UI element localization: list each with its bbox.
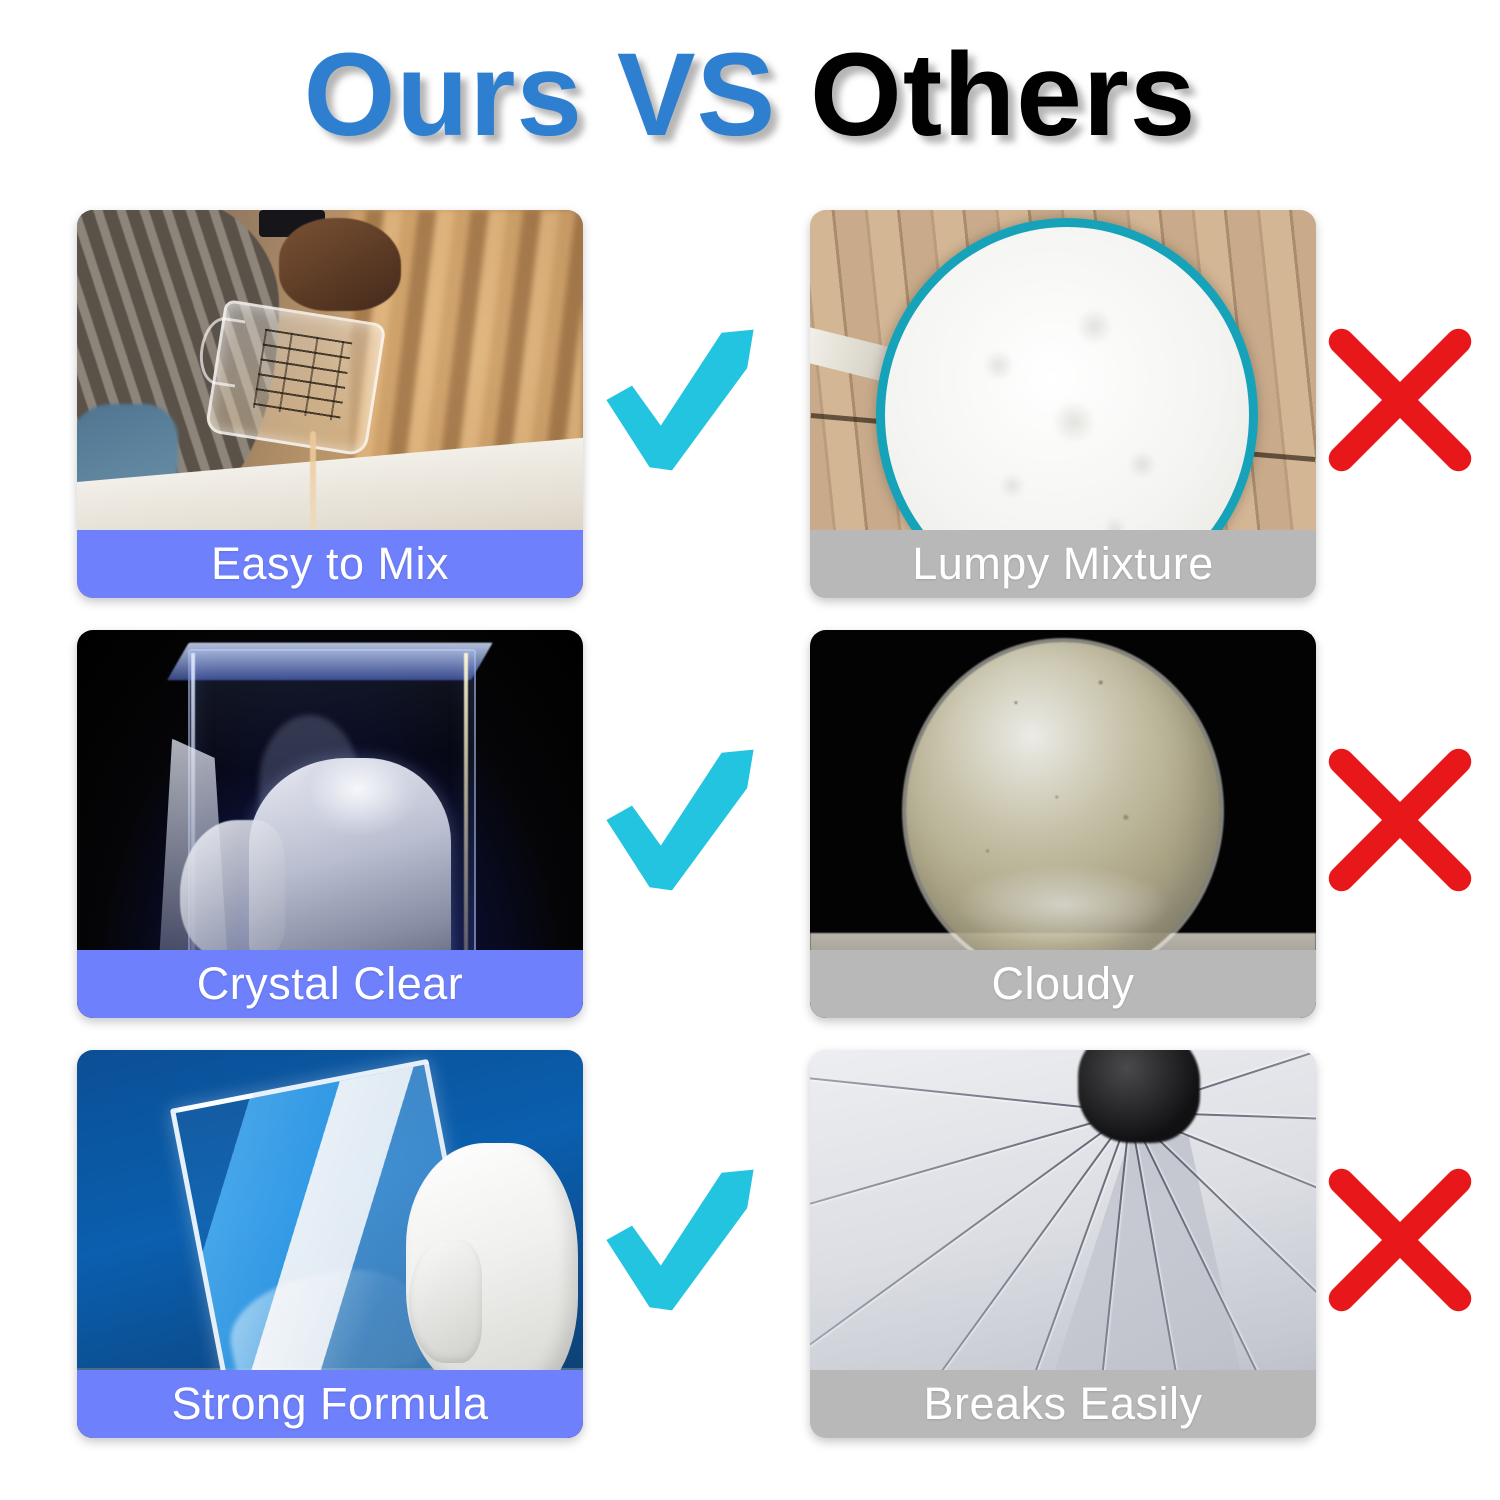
page-title: Ours VS Others	[304, 36, 1197, 154]
others-card-1[interactable]: Lumpy Mixture	[810, 210, 1316, 598]
comparison-row-1: Easy to Mix Lumpy Mixture	[0, 190, 1500, 610]
ours-card-1[interactable]: Easy to Mix	[77, 210, 583, 598]
ours-label-3: Strong Formula	[171, 1378, 488, 1430]
others-label-bar-2: Cloudy	[810, 950, 1316, 1018]
ours-label-bar-2: Crystal Clear	[77, 950, 583, 1018]
comparison-grid: Easy to Mix Lumpy Mixture	[0, 190, 1500, 1450]
others-label-2: Cloudy	[991, 958, 1134, 1010]
others-cell-1[interactable]: Lumpy Mixture	[810, 210, 1316, 598]
ours-card-3[interactable]: Strong Formula	[77, 1050, 583, 1438]
check-mark-icon-3	[600, 1160, 760, 1320]
others-card-2[interactable]: Cloudy	[810, 630, 1316, 1018]
ours-label-2: Crystal Clear	[197, 958, 464, 1010]
comparison-row-3: Strong Formula	[0, 1030, 1500, 1450]
others-cell-2[interactable]: Cloudy	[810, 630, 1316, 1018]
ours-label-1: Easy to Mix	[211, 538, 449, 590]
ours-card-2[interactable]: Crystal Clear	[77, 630, 583, 1018]
comparison-row-2: Crystal Clear Cloudy	[0, 610, 1500, 1030]
title-others: Others	[810, 29, 1196, 161]
title-ours: Ours	[304, 29, 583, 161]
check-mark-icon-2	[600, 740, 760, 900]
cross-mark-icon-3	[1325, 1165, 1475, 1315]
page-header: Ours VS Others	[0, 0, 1500, 190]
cross-mark-icon-2	[1325, 745, 1475, 895]
others-label-bar-1: Lumpy Mixture	[810, 530, 1316, 598]
cross-mark-icon-1	[1325, 325, 1475, 475]
title-vs: VS	[617, 29, 776, 161]
others-label-3: Breaks Easily	[923, 1378, 1202, 1430]
ours-cell-2[interactable]: Crystal Clear	[77, 630, 583, 1018]
others-card-3[interactable]: Breaks Easily	[810, 1050, 1316, 1438]
others-label-1: Lumpy Mixture	[912, 538, 1214, 590]
ours-cell-1[interactable]: Easy to Mix	[77, 210, 583, 598]
others-cell-3[interactable]: Breaks Easily	[810, 1050, 1316, 1438]
ours-label-bar-3: Strong Formula	[77, 1370, 583, 1438]
ours-cell-3[interactable]: Strong Formula	[77, 1050, 583, 1438]
check-mark-icon-1	[600, 320, 760, 480]
ours-label-bar-1: Easy to Mix	[77, 530, 583, 598]
others-label-bar-3: Breaks Easily	[810, 1370, 1316, 1438]
